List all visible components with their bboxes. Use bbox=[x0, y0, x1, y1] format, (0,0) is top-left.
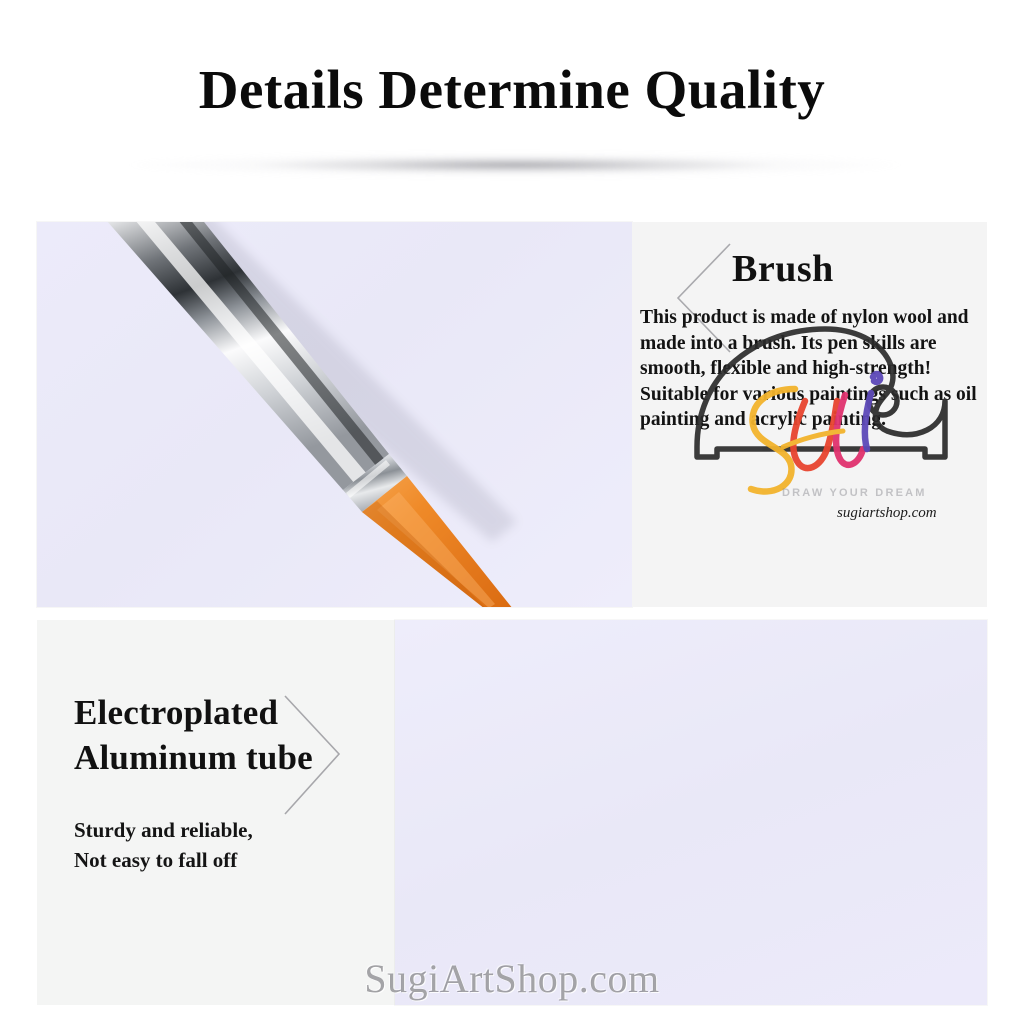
title-area: Details Determine Quality bbox=[0, 0, 1024, 180]
brush-description: This product is made of nylon wool and m… bbox=[640, 305, 986, 433]
product-infographic: Details Determine Quality bbox=[0, 0, 1024, 1024]
title-shadow-divider bbox=[125, 152, 905, 178]
macro-brush-illustration bbox=[37, 222, 632, 607]
brush-text-panel: Brush This product is made of nylon wool… bbox=[632, 222, 987, 607]
footer-watermark: SugiArtShop.com bbox=[0, 955, 1024, 1002]
brush-heading: Brush bbox=[732, 247, 834, 291]
page-title: Details Determine Quality bbox=[0, 58, 1024, 121]
brush-macro-photo bbox=[37, 222, 632, 607]
brush-set-photo: 0 Keep 2 Keep bbox=[395, 620, 987, 1005]
tube-sub-line2: Not easy to fall off bbox=[74, 845, 374, 875]
tube-text-panel: Electroplated Aluminum tube Sturdy and r… bbox=[37, 620, 395, 1005]
tube-subtext: Sturdy and reliable, Not easy to fall of… bbox=[74, 815, 374, 875]
watermark-url: sugiartshop.com bbox=[837, 505, 937, 522]
photo-background bbox=[395, 620, 987, 1005]
watermark-tagline: DRAW YOUR DREAM bbox=[782, 487, 927, 499]
row-brush: Brush This product is made of nylon wool… bbox=[37, 222, 987, 607]
chevron-pointer-icon bbox=[277, 690, 347, 820]
tube-sub-line1: Sturdy and reliable, bbox=[74, 815, 374, 845]
row-aluminum-tube: Electroplated Aluminum tube Sturdy and r… bbox=[37, 620, 987, 1005]
